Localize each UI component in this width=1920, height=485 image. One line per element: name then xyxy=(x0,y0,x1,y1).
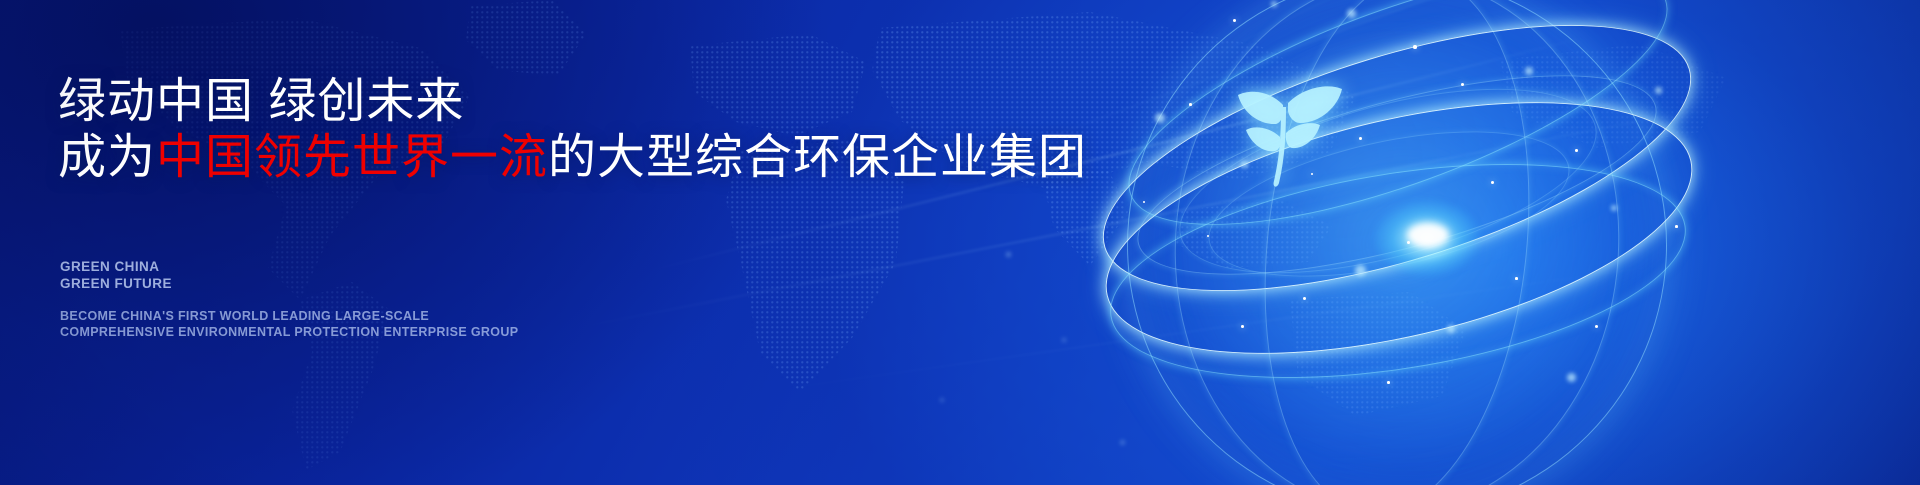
orbit-ring-1 xyxy=(1074,0,1719,346)
globe-latitude-1 xyxy=(1119,34,1675,316)
slogan-english-line-1: GREEN CHINA xyxy=(60,258,172,275)
hero-banner: 绿动中国 绿创未来 成为中国领先世界一流的大型综合环保企业集团 GREEN CH… xyxy=(0,0,1920,485)
orbit-ring-5 xyxy=(1161,52,1616,310)
headline-line-1: 绿动中国 绿创未来 xyxy=(58,78,464,126)
headline-prefix: 成为 xyxy=(58,131,156,184)
mission-english: BECOME CHINA'S FIRST WORLD LEADING LARGE… xyxy=(60,309,518,340)
text-content: 绿动中国 绿创未来 成为中国领先世界一流的大型综合环保企业集团 GREEN CH… xyxy=(58,0,1058,485)
orbit-ring-2 xyxy=(1082,54,1716,401)
slogan-english-line-2: GREEN FUTURE xyxy=(60,275,172,292)
headline-suffix: 的大型综合环保企业集团 xyxy=(548,131,1087,184)
globe-meridian-1 xyxy=(1239,0,1554,485)
globe-core-hotspot xyxy=(1407,223,1449,247)
globe-meridian-2 xyxy=(1157,0,1637,485)
sprout-icon xyxy=(1228,77,1346,193)
orbit-ring-6 xyxy=(1196,104,1582,304)
mission-english-line-2: COMPREHENSIVE ENVIRONMENTAL PROTECTION E… xyxy=(60,325,518,341)
mission-english-line-1: BECOME CHINA'S FIRST WORLD LEADING LARGE… xyxy=(60,309,518,325)
globe-sphere xyxy=(1127,0,1667,485)
slogan-english: GREEN CHINA GREEN FUTURE xyxy=(60,258,172,292)
headline-highlight: 中国领先世界一流 xyxy=(156,131,548,184)
orbit-ring-4 xyxy=(1095,129,1700,414)
orbit-ring-3 xyxy=(1100,0,1696,277)
headline-line-1-text: 绿动中国 绿创未来 xyxy=(58,75,464,128)
globe-graphic xyxy=(1055,0,1755,485)
globe-core-glow xyxy=(1373,199,1481,277)
headline-line-2: 成为中国领先世界一流的大型综合环保企业集团 xyxy=(58,134,1087,182)
globe-outer-glow xyxy=(1115,0,1675,485)
